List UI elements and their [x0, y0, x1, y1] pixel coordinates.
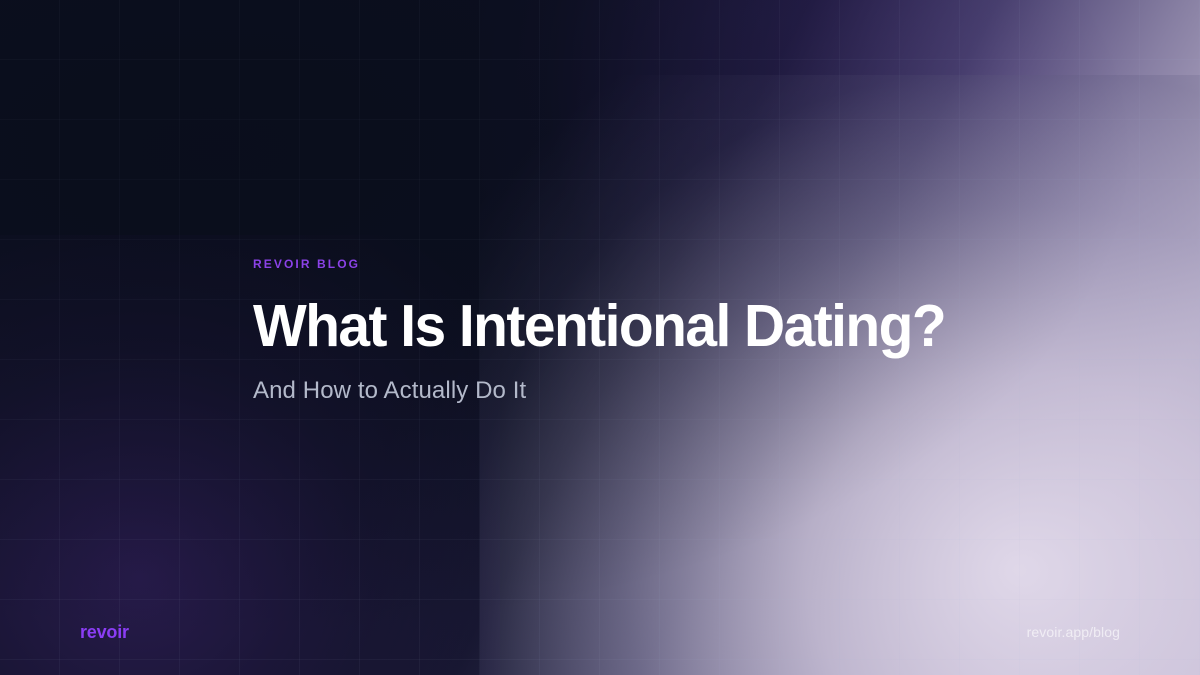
card-content: REVOIR BLOG What Is Intentional Dating? … — [253, 258, 1053, 406]
blog-share-card: REVOIR BLOG What Is Intentional Dating? … — [0, 0, 1200, 675]
footer-url: revoir.app/blog — [1027, 625, 1120, 639]
page-title: What Is Intentional Dating? — [253, 296, 1025, 356]
page-subtitle: And How to Actually Do It — [253, 376, 1053, 406]
eyebrow-label: REVOIR BLOG — [253, 258, 1053, 270]
brand-logo: revoir — [80, 623, 129, 641]
